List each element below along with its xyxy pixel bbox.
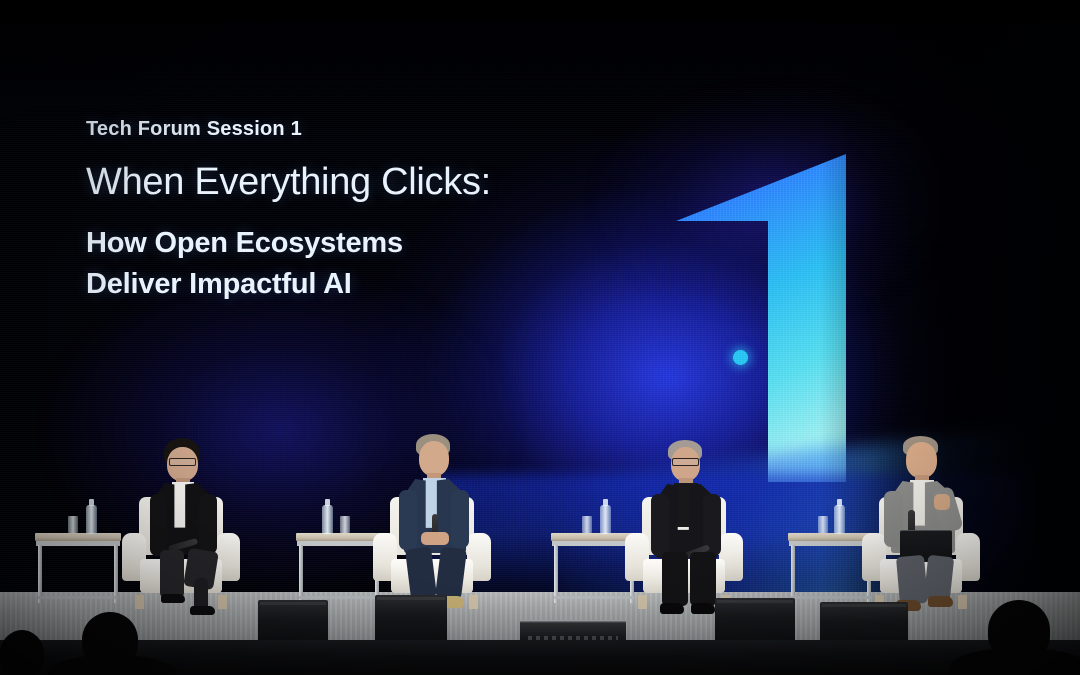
panelist-1-shoe-right: [190, 606, 215, 615]
panelist-2-arm-left: [399, 490, 417, 550]
panelist-1-arm-right: [199, 494, 217, 554]
table-stretcher: [791, 596, 871, 599]
panelist-4: [878, 436, 994, 622]
side-table-1: [35, 533, 121, 603]
panelist-4-shoe-right: [928, 596, 953, 607]
water-bottle-4: [834, 505, 845, 534]
panelist-1: [140, 438, 250, 618]
water-bottle-1: [86, 505, 97, 534]
table-stretcher: [299, 596, 379, 599]
panelist-2-arm-right: [451, 490, 469, 548]
water-glass-3: [582, 516, 592, 533]
table-leg-right: [114, 545, 118, 603]
panelist-2-leg-right: [435, 547, 467, 600]
slide-headline: When Everything Clicks:: [86, 163, 646, 201]
table-leg-left: [38, 545, 42, 603]
table-leg-left: [554, 545, 558, 603]
table-apron: [297, 541, 381, 546]
panelist-1-leg-left: [160, 550, 184, 598]
water-glass-2: [340, 516, 350, 533]
audience-head-3: [0, 630, 44, 675]
water-glass-4: [818, 516, 828, 533]
panelist-2: [390, 434, 502, 620]
conference-stage-photo: Tech Forum Session 1 When Everything Cli…: [0, 0, 1080, 675]
table-top: [296, 533, 382, 541]
panelist-3-leg-left: [662, 552, 688, 606]
table-stretcher: [38, 596, 118, 599]
panelist-2-hands: [421, 532, 449, 545]
panelist-3-arm-left: [651, 494, 669, 556]
panelist-1-glasses-icon: [169, 458, 196, 466]
panelist-4-leg-right: [924, 555, 954, 601]
water-bottle-3: [600, 505, 611, 534]
panelist-3-leg-right: [690, 552, 716, 606]
slide-title-block: Tech Forum Session 1 When Everything Cli…: [86, 118, 646, 305]
water-glass-1: [68, 516, 78, 533]
panelist-2-head: [419, 441, 449, 476]
panelist-2-leg-left: [405, 547, 437, 600]
table-apron: [552, 541, 636, 546]
side-table-2: [296, 533, 382, 603]
table-leg-left: [299, 545, 303, 603]
panelist-3: [643, 440, 753, 622]
table-top: [35, 533, 121, 541]
table-apron: [789, 541, 873, 546]
table-leg-left: [791, 545, 795, 603]
panelist-3-glasses-icon: [672, 458, 699, 466]
panelist-1-arm-left: [150, 494, 167, 556]
panelist-3-shoe-right: [691, 603, 715, 614]
panelist-3-shoe-left: [660, 603, 684, 614]
panelist-4-gesturing-hand: [934, 494, 950, 510]
table-apron: [36, 541, 120, 546]
water-bottle-2: [322, 505, 333, 534]
slide-subtitle-line-1: How Open Ecosystems: [86, 223, 646, 264]
table-stretcher: [554, 596, 634, 599]
session-eyebrow-label: Tech Forum Session 1: [86, 118, 646, 141]
panelist-4-leg-left: [896, 555, 928, 605]
panelist-4-head: [906, 442, 937, 478]
slide-subtitle-line-2: Deliver Impactful AI: [86, 264, 646, 305]
panelist-1-shoe-left: [161, 594, 185, 603]
